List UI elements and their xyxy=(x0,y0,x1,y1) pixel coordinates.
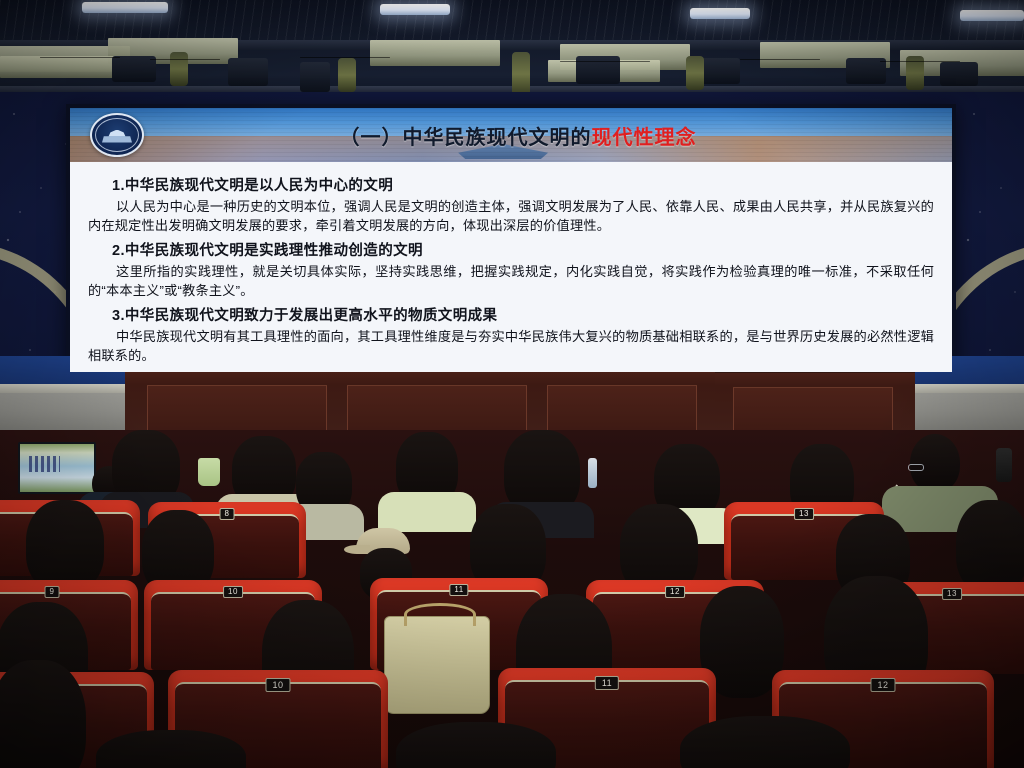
stage-light xyxy=(960,10,1024,21)
slide-title-highlight: 现代性理念 xyxy=(592,127,697,149)
ceiling-panel xyxy=(0,56,118,78)
audience-area: 8 8 13 xyxy=(0,430,1024,768)
stage-light xyxy=(380,4,450,15)
person-hair xyxy=(956,500,1024,594)
section-3-heading: 3.中华民族现代文明致力于发展出更高水平的物质文明成果 xyxy=(112,304,934,325)
person-shoulders xyxy=(378,492,476,532)
person-hair xyxy=(96,730,246,768)
section-1-heading: 1.中华民族现代文明是以人民为中心的文明 xyxy=(112,174,934,195)
ceiling xyxy=(0,0,1024,100)
section-3-paragraph: 中华民族现代文明有其工具理性的面向，其工具理性维度是与夯实中华民族伟大复兴的物质… xyxy=(88,327,934,365)
seat-number: 10 xyxy=(265,678,290,692)
seat-number: 12 xyxy=(870,678,895,692)
glasses-icon xyxy=(908,464,924,471)
slide-title: （一）中华民族现代文明的现代性理念 xyxy=(144,121,892,150)
seat-number: 12 xyxy=(665,586,685,598)
seat-number: 8 xyxy=(220,508,235,520)
audience-laptop xyxy=(18,442,96,494)
seat-number: 13 xyxy=(942,588,962,600)
seat-number: 11 xyxy=(595,676,619,690)
slide-body: 1.中华民族现代文明是以人民为中心的文明 以人民为中心是一种历史的文明本位，强调… xyxy=(70,162,952,372)
person-head xyxy=(910,434,960,492)
person-hair xyxy=(680,716,850,768)
light-fixture xyxy=(300,62,330,92)
person-hair xyxy=(396,722,556,768)
seat-number: 9 xyxy=(45,586,60,598)
lecture-hall-photo: （一）中华民族现代文明的现代性理念 1.中华民族现代文明是以人民为中心的文明 以… xyxy=(0,0,1024,768)
university-seal-icon xyxy=(90,113,144,157)
projection-screen: （一）中华民族现代文明的现代性理念 1.中华民族现代文明是以人民为中心的文明 以… xyxy=(66,104,956,376)
ceiling-panel xyxy=(370,40,500,66)
section-1-paragraph: 以人民为中心是一种历史的文明本位，强调人民是文明的创造主体，强调文明发展为了人民… xyxy=(88,197,934,235)
seat-number: 10 xyxy=(223,586,243,598)
slide-title-prefix: （一）中华民族现代文明的 xyxy=(340,127,592,149)
slide-header: （一）中华民族现代文明的现代性理念 xyxy=(70,108,952,162)
presentation-slide: （一）中华民族现代文明的现代性理念 1.中华民族现代文明是以人民为中心的文明 以… xyxy=(70,108,952,372)
handbag xyxy=(384,616,490,714)
person-hair xyxy=(26,500,104,592)
green-cup xyxy=(198,458,220,486)
section-2-paragraph: 这里所指的实践理性，就是关切具体实际，坚持实践思维，把握实践规定，内化实践自觉，… xyxy=(88,262,934,300)
light-fixture xyxy=(940,62,978,86)
light-fixture xyxy=(700,58,740,84)
spot-lamp xyxy=(512,52,530,96)
seat-number: 13 xyxy=(794,508,814,520)
laptop-screen xyxy=(20,444,94,492)
stage-light xyxy=(690,8,750,19)
stage-light xyxy=(82,2,168,13)
water-bottle xyxy=(588,458,597,488)
seat-number: 11 xyxy=(449,584,468,596)
person-hair xyxy=(0,660,86,768)
section-2-heading: 2.中华民族现代文明是实践理性推动创造的文明 xyxy=(112,239,934,260)
spot-lamp xyxy=(686,56,704,90)
light-fixture xyxy=(228,58,268,86)
spot-lamp xyxy=(338,58,356,92)
thermos xyxy=(996,448,1012,482)
